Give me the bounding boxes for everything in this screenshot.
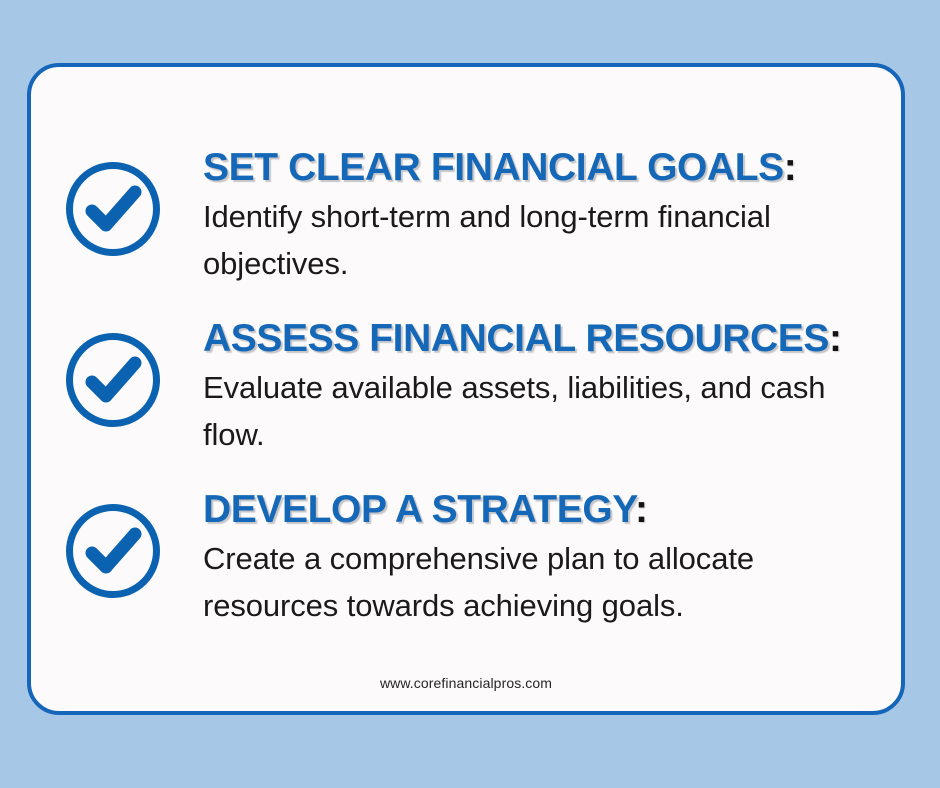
list-item-text: DEVELOP A STRATEGY: Create a comprehensi… [203, 486, 883, 629]
list-item-text: ASSESS FINANCIAL RESOURCES: Evaluate ava… [203, 315, 883, 458]
list-item-heading: ASSESS FINANCIAL RESOURCES: [203, 317, 883, 361]
list-item-text: SET CLEAR FINANCIAL GOALS: Identify shor… [203, 144, 883, 287]
footer-website-url: www.corefinancialpros.com [31, 675, 901, 691]
list-item-heading-colon: : [829, 317, 842, 360]
list-item-body: Identify short-term and long-term financ… [203, 193, 843, 287]
list-item-heading-colon: : [635, 488, 648, 531]
list-item-heading: DEVELOP A STRATEGY: [203, 488, 883, 532]
list-item: DEVELOP A STRATEGY: Create a comprehensi… [63, 486, 883, 629]
circle-check-icon [63, 330, 163, 430]
list-item: SET CLEAR FINANCIAL GOALS: Identify shor… [63, 144, 883, 287]
list-item-heading-text: ASSESS FINANCIAL RESOURCES [203, 317, 829, 360]
circle-check-icon [63, 501, 163, 601]
list-item-heading-colon: : [784, 146, 797, 189]
list-item-body: Evaluate available assets, liabilities, … [203, 364, 843, 458]
infographic-card: SET CLEAR FINANCIAL GOALS: Identify shor… [27, 63, 905, 715]
list-item: ASSESS FINANCIAL RESOURCES: Evaluate ava… [63, 315, 883, 458]
list-item-heading-text: DEVELOP A STRATEGY [203, 488, 635, 531]
list-item-heading-text: SET CLEAR FINANCIAL GOALS [203, 146, 784, 189]
list-item-body: Create a comprehensive plan to allocate … [203, 535, 843, 629]
list-item-heading: SET CLEAR FINANCIAL GOALS: [203, 146, 883, 190]
circle-check-icon [63, 159, 163, 259]
